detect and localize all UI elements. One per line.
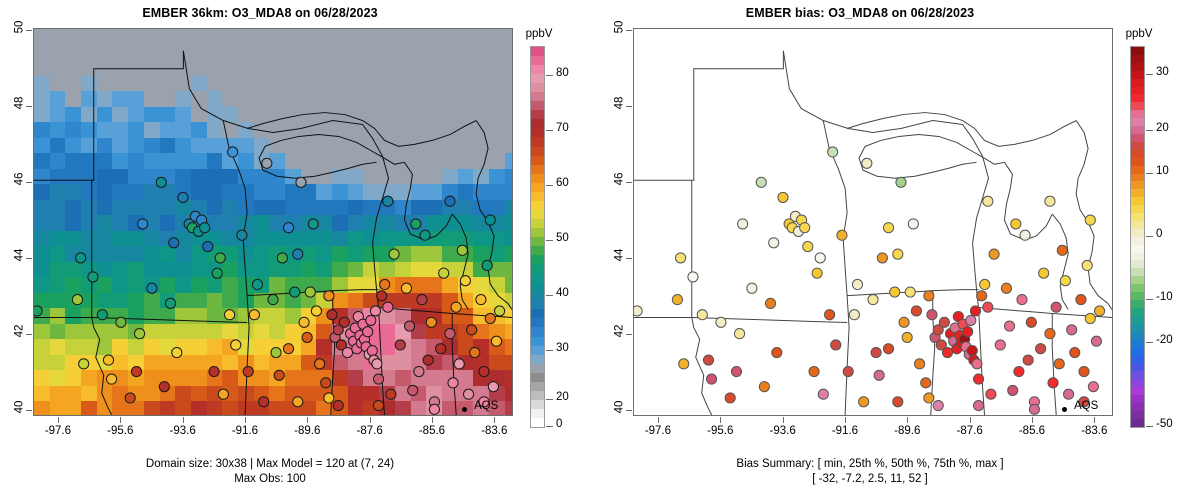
aqs-station-marker	[849, 310, 859, 320]
aqs-station-marker	[800, 223, 810, 233]
model-raster	[34, 29, 512, 415]
y-tick: 50	[0, 21, 26, 33]
aqs-station-marker	[852, 279, 862, 289]
colorbar-segment	[531, 255, 544, 264]
aqs-station-marker	[380, 279, 390, 289]
aqs-station-marker	[408, 385, 418, 395]
colorbar-segment	[531, 418, 544, 427]
aqs-station-marker	[169, 238, 179, 248]
aqs-station-marker	[290, 287, 300, 297]
x-tick-mark	[307, 417, 308, 423]
colorbar-segment	[1131, 94, 1144, 102]
colorbar-segment	[531, 147, 544, 156]
aqs-station-marker	[228, 147, 238, 157]
aqs-station-marker	[159, 382, 169, 392]
aqs-station-marker	[967, 346, 977, 356]
aqs-station-marker	[395, 340, 405, 350]
aqs-station-marker	[738, 219, 748, 229]
x-tick-label: -93.6	[159, 425, 207, 437]
aqs-station-marker	[172, 347, 182, 357]
colorbar-tick-mark	[546, 350, 553, 351]
colorbar-tick-label: 30	[1156, 66, 1169, 78]
x-tick-label: -83.6	[470, 425, 518, 437]
bias-aqs-stations	[634, 29, 1112, 415]
colorbar-segment	[1131, 55, 1144, 63]
colorbar-segment	[1131, 308, 1144, 316]
aqs-station-marker	[367, 346, 377, 356]
aqs-station-marker	[420, 230, 430, 240]
aqs-station-marker	[672, 295, 682, 305]
colorbar-tick-label: 10	[1156, 165, 1169, 177]
colorbar-segment	[1131, 237, 1144, 245]
aqs-station-marker	[283, 223, 293, 233]
colorbar-tick-mark	[546, 240, 553, 241]
colorbar-segment	[531, 228, 544, 237]
aqs-station-marker	[373, 400, 383, 410]
panel-bias: EMBER bias: O3_MDA8 on 06/28/2023	[600, 0, 1200, 502]
aqs-station-marker	[249, 310, 259, 320]
colorbar-segment	[531, 128, 544, 137]
aqs-station-marker	[377, 291, 387, 301]
y-tick: 42	[0, 325, 26, 337]
aqs-station-marker	[1094, 306, 1104, 316]
aqs-station-marker	[911, 306, 921, 316]
colorbar-segment	[531, 337, 544, 346]
aqs-station-marker	[818, 389, 828, 399]
aqs-station-marker	[1014, 366, 1024, 376]
colorbar-tick-mark	[546, 130, 553, 131]
aqs-station-marker	[212, 268, 222, 278]
colorbar-segment	[1131, 47, 1144, 55]
aqs-station-marker	[902, 332, 912, 342]
aqs-station-marker	[470, 347, 480, 357]
aqs-station-marker	[404, 321, 414, 331]
y-tick-label: 50	[614, 20, 626, 33]
aqs-station-marker	[812, 268, 822, 278]
colorbar-segment	[531, 174, 544, 183]
colorbar-segment	[531, 83, 544, 92]
aqs-station-marker	[311, 306, 321, 316]
x-tick-mark	[58, 417, 59, 423]
aqs-station-marker	[485, 313, 495, 323]
colorbar-segment	[1131, 340, 1144, 348]
colorbar-segment	[1131, 347, 1144, 355]
x-tick-label: -87.6	[946, 425, 994, 437]
aqs-station-marker	[706, 374, 716, 384]
colorbar-segment	[1131, 419, 1144, 427]
aqs-legend-dot-icon	[1062, 407, 1067, 412]
colorbar-segment	[1131, 276, 1144, 284]
colorbar-segment	[1131, 411, 1144, 419]
aqs-station-marker	[980, 279, 990, 289]
aqs-station-marker	[942, 347, 952, 357]
colorbar-segment	[1131, 253, 1144, 261]
bias-colorbar-units: ppbV	[1116, 28, 1162, 40]
colorbar-segment	[1131, 300, 1144, 308]
x-tick-label: -93.6	[759, 425, 807, 437]
colorbar-segment	[1131, 63, 1144, 71]
aqs-station-marker	[843, 366, 853, 376]
aqs-station-marker	[485, 215, 495, 225]
y-tick: 46	[0, 173, 26, 185]
aqs-station-marker	[383, 302, 393, 312]
x-tick-label: -97.6	[634, 425, 682, 437]
aqs-station-marker	[778, 192, 788, 202]
y-tick-label: 44	[14, 249, 26, 262]
colorbar-segment	[531, 309, 544, 318]
aqs-legend-label: AQS	[474, 400, 498, 412]
aqs-station-marker	[131, 366, 141, 376]
y-tick-mark	[626, 410, 632, 411]
colorbar-segment	[1131, 118, 1144, 126]
colorbar-segment	[531, 282, 544, 291]
aqs-station-marker	[451, 302, 461, 312]
aqs-station-marker	[973, 400, 983, 410]
aqs-station-marker	[225, 310, 235, 320]
aqs-station-marker	[828, 147, 838, 157]
aqs-station-marker	[972, 359, 982, 369]
bias-caption-line2: [ -32, -7.2, 2.5, 11, 52 ]	[600, 472, 1140, 487]
bias-caption-line1: Bias Summary: [ min, 25th %, 50th %, 75t…	[600, 457, 1140, 472]
y-tick-label: 46	[614, 173, 626, 186]
x-tick-label: -95.6	[96, 425, 144, 437]
colorbar-segment	[1131, 292, 1144, 300]
aqs-station-marker	[237, 230, 247, 240]
aqs-station-marker	[1051, 302, 1061, 312]
x-tick-mark	[370, 417, 371, 423]
x-tick-label: -85.6	[408, 425, 456, 437]
aqs-station-marker	[1088, 382, 1098, 392]
aqs-station-marker	[165, 298, 175, 308]
y-tick-label: 48	[614, 97, 626, 110]
colorbar-tick-label: 80	[556, 67, 569, 79]
x-tick-label: -85.6	[1008, 425, 1056, 437]
colorbar-tick-label: 60	[556, 177, 569, 189]
aqs-legend-dot-icon	[462, 407, 467, 412]
bias-plot-area: AQS	[633, 28, 1113, 416]
aqs-station-marker	[890, 287, 900, 297]
aqs-station-marker	[1045, 329, 1055, 339]
aqs-station-marker	[1020, 230, 1030, 240]
colorbar-segment	[1131, 174, 1144, 182]
aqs-station-marker	[274, 370, 284, 380]
aqs-legend-label: AQS	[1074, 400, 1098, 412]
colorbar-segment	[531, 382, 544, 391]
aqs-station-marker	[147, 283, 157, 293]
y-tick-mark	[26, 182, 32, 183]
colorbar-segment	[531, 264, 544, 273]
aqs-station-marker	[454, 359, 464, 369]
aqs-station-marker	[308, 219, 318, 229]
aqs-station-marker	[79, 359, 89, 369]
aqs-station-marker	[1060, 276, 1070, 286]
aqs-station-marker	[268, 295, 278, 305]
aqs-station-marker	[259, 397, 269, 407]
colorbar-segment	[531, 318, 544, 327]
aqs-station-marker	[874, 370, 884, 380]
x-tick-label: -91.6	[821, 425, 869, 437]
aqs-station-marker	[809, 366, 819, 376]
aqs-station-marker	[305, 287, 315, 297]
colorbar-segment	[1131, 268, 1144, 276]
y-tick-mark	[26, 258, 32, 259]
aqs-station-marker	[1008, 385, 1018, 395]
aqs-station-marker	[327, 310, 337, 320]
x-tick-label: -97.6	[34, 425, 82, 437]
panel-bias-title: EMBER bias: O3_MDA8 on 06/28/2023	[600, 6, 1120, 20]
colorbar-segment	[1131, 403, 1144, 411]
x-tick-mark	[720, 417, 721, 423]
y-tick-label: 46	[14, 173, 26, 186]
aqs-station-marker	[1017, 295, 1027, 305]
colorbar-segment	[1131, 158, 1144, 166]
aqs-station-marker	[765, 298, 775, 308]
colorbar-segment	[531, 210, 544, 219]
aqs-station-marker	[725, 393, 735, 403]
colorbar-segment	[1131, 316, 1144, 324]
aqs-station-marker	[200, 223, 210, 233]
colorbar-segment	[1131, 395, 1144, 403]
y-tick: 40	[0, 401, 26, 413]
colorbar-segment	[531, 364, 544, 373]
aqs-station-marker	[921, 378, 931, 388]
colorbar-segment	[1131, 371, 1144, 379]
x-tick-mark	[1032, 417, 1033, 423]
aqs-station-marker	[989, 249, 999, 259]
aqs-station-marker	[296, 177, 306, 187]
colorbar-tick-label: 20	[556, 391, 569, 403]
aqs-station-marker	[460, 276, 470, 286]
panel-model: EMBER 36km: O3_MDA8 on 06/28/2023	[0, 0, 600, 502]
aqs-station-marker	[986, 389, 996, 399]
colorbar-segment	[1131, 110, 1144, 118]
y-tick-label: 40	[614, 401, 626, 414]
aqs-station-marker	[679, 359, 689, 369]
aqs-station-marker	[995, 340, 1005, 350]
colorbar-segment	[1131, 324, 1144, 332]
colorbar-segment	[1131, 102, 1144, 110]
aqs-station-marker	[439, 268, 449, 278]
aqs-station-marker	[342, 347, 352, 357]
aqs-station-marker	[883, 344, 893, 354]
colorbar-tick-mark	[1146, 130, 1153, 131]
model-aqs-stations	[34, 29, 512, 415]
aqs-station-marker	[218, 389, 228, 399]
colorbar-tick-label: 40	[556, 287, 569, 299]
aqs-station-marker	[321, 378, 331, 388]
aqs-station-marker	[134, 329, 144, 339]
aqs-station-marker	[973, 374, 983, 384]
aqs-station-marker	[324, 291, 334, 301]
aqs-station-marker	[697, 310, 707, 320]
aqs-station-marker	[429, 404, 439, 414]
aqs-station-marker	[908, 219, 918, 229]
aqs-station-marker	[1026, 317, 1036, 327]
aqs-station-marker	[411, 219, 421, 229]
aqs-station-marker	[747, 283, 757, 293]
aqs-station-marker	[1070, 347, 1080, 357]
colorbar-tick-label: 30	[556, 342, 569, 354]
y-tick-mark	[26, 106, 32, 107]
colorbar-segment	[531, 327, 544, 336]
colorbar-tick-label: -20	[1156, 334, 1173, 346]
colorbar-tick-mark	[546, 75, 553, 76]
x-tick-mark	[907, 417, 908, 423]
model-caption-line2: Max Obs: 100	[0, 472, 540, 487]
x-tick-mark	[120, 417, 121, 423]
colorbar-tick-mark	[546, 295, 553, 296]
y-tick: 48	[600, 97, 626, 109]
y-tick-label: 42	[614, 325, 626, 338]
aqs-station-marker	[34, 306, 42, 316]
y-tick-label: 40	[14, 401, 26, 414]
aqs-station-marker	[445, 329, 455, 339]
y-tick-mark	[626, 334, 632, 335]
aqs-station-marker	[324, 393, 334, 403]
colorbar-segment	[1131, 189, 1144, 197]
aqs-station-marker	[634, 306, 642, 316]
aqs-station-marker	[1085, 215, 1095, 225]
aqs-station-marker	[1023, 355, 1033, 365]
x-tick-mark	[970, 417, 971, 423]
x-tick-label: -89.6	[883, 425, 931, 437]
colorbar-segment	[1131, 379, 1144, 387]
aqs-station-marker	[476, 295, 486, 305]
aqs-station-marker	[893, 397, 903, 407]
colorbar-segment	[531, 137, 544, 146]
aqs-station-marker	[482, 260, 492, 270]
y-tick: 44	[0, 249, 26, 261]
aqs-station-marker	[688, 272, 698, 282]
aqs-station-marker	[756, 177, 766, 187]
aqs-station-marker	[366, 315, 376, 325]
aqs-station-marker	[939, 317, 949, 327]
aqs-station-marker	[927, 310, 937, 320]
aqs-station-marker	[1004, 321, 1014, 331]
colorbar-segment	[531, 300, 544, 309]
aqs-station-marker	[372, 359, 382, 369]
aqs-station-marker	[125, 393, 135, 403]
colorbar-tick-mark	[1146, 173, 1153, 174]
y-tick-mark	[26, 410, 32, 411]
aqs-station-marker	[924, 291, 934, 301]
aqs-station-marker	[1091, 336, 1101, 346]
model-caption-line1: Domain size: 30x38 | Max Model = 120 at …	[0, 457, 540, 472]
colorbar-segment	[531, 237, 544, 246]
aqs-station-marker	[386, 389, 396, 399]
y-tick-mark	[626, 30, 632, 31]
colorbar-segment	[531, 192, 544, 201]
model-colorbar-gradient	[530, 46, 545, 428]
aqs-station-marker	[803, 241, 813, 251]
aqs-station-marker	[106, 374, 116, 384]
aqs-station-marker	[859, 397, 869, 407]
aqs-station-marker	[448, 378, 458, 388]
colorbar-tick-label: 70	[556, 122, 569, 134]
aqs-station-marker	[1001, 283, 1011, 293]
colorbar-segment	[1131, 197, 1144, 205]
y-tick: 44	[600, 249, 626, 261]
colorbar-segment	[531, 346, 544, 355]
x-tick-mark	[183, 417, 184, 423]
aqs-station-marker	[772, 347, 782, 357]
x-tick-label: -95.6	[696, 425, 744, 437]
colorbar-tick-label: -50	[1156, 418, 1173, 430]
aqs-station-marker	[1064, 389, 1074, 399]
colorbar-segment	[1131, 332, 1144, 340]
x-tick-label: -91.6	[221, 425, 269, 437]
colorbar-segment	[1131, 150, 1144, 158]
y-tick: 46	[600, 173, 626, 185]
aqs-station-marker	[479, 366, 489, 376]
colorbar-segment	[531, 273, 544, 282]
colorbar-segment	[1131, 284, 1144, 292]
aqs-station-marker	[414, 366, 424, 376]
colorbar-segment	[531, 47, 544, 56]
colorbar-tick-mark	[1146, 342, 1153, 343]
y-tick-mark	[626, 258, 632, 259]
colorbar-segment	[531, 246, 544, 255]
colorbar-segment	[531, 373, 544, 382]
aqs-station-marker	[370, 306, 380, 316]
x-tick-mark	[494, 417, 495, 423]
x-tick-mark	[783, 417, 784, 423]
aqs-station-marker	[933, 400, 943, 410]
colorbar-tick-mark	[1146, 299, 1153, 300]
colorbar-segment	[1131, 87, 1144, 95]
y-tick-label: 44	[614, 249, 626, 262]
aqs-station-marker	[116, 317, 126, 327]
colorbar-segment	[531, 65, 544, 74]
aqs-station-marker	[339, 317, 349, 327]
colorbar-segment	[1131, 71, 1144, 79]
colorbar-segment	[1131, 126, 1144, 134]
y-tick: 50	[600, 21, 626, 33]
y-tick-label: 48	[14, 97, 26, 110]
aqs-station-marker	[76, 253, 86, 263]
aqs-station-marker	[963, 327, 973, 337]
aqs-station-marker	[203, 241, 213, 251]
aqs-station-marker	[877, 253, 887, 263]
aqs-station-marker	[156, 177, 166, 187]
aqs-station-marker	[977, 291, 987, 301]
colorbar-segment	[1131, 245, 1144, 253]
colorbar-segment	[531, 156, 544, 165]
aqs-station-marker	[893, 249, 903, 259]
colorbar-segment	[531, 101, 544, 110]
colorbar-segment	[531, 183, 544, 192]
colorbar-segment	[1131, 79, 1144, 87]
x-tick-label: -89.6	[283, 425, 331, 437]
aqs-station-marker	[1067, 325, 1077, 335]
aqs-station-marker	[243, 366, 253, 376]
colorbar-tick-mark	[1146, 236, 1153, 237]
colorbar-tick-mark	[1146, 74, 1153, 75]
aqs-station-marker	[488, 382, 498, 392]
x-tick-mark	[245, 417, 246, 423]
aqs-station-marker	[1076, 295, 1086, 305]
colorbar-segment	[531, 409, 544, 418]
aqs-station-marker	[277, 253, 287, 263]
aqs-station-marker	[1079, 366, 1089, 376]
colorbar-segment	[1131, 355, 1144, 363]
colorbar-segment	[1131, 221, 1144, 229]
aqs-station-marker	[178, 192, 188, 202]
aqs-station-marker	[703, 355, 713, 365]
colorbar-segment	[1131, 387, 1144, 395]
aqs-station-marker	[734, 329, 744, 339]
aqs-station-marker	[401, 283, 411, 293]
